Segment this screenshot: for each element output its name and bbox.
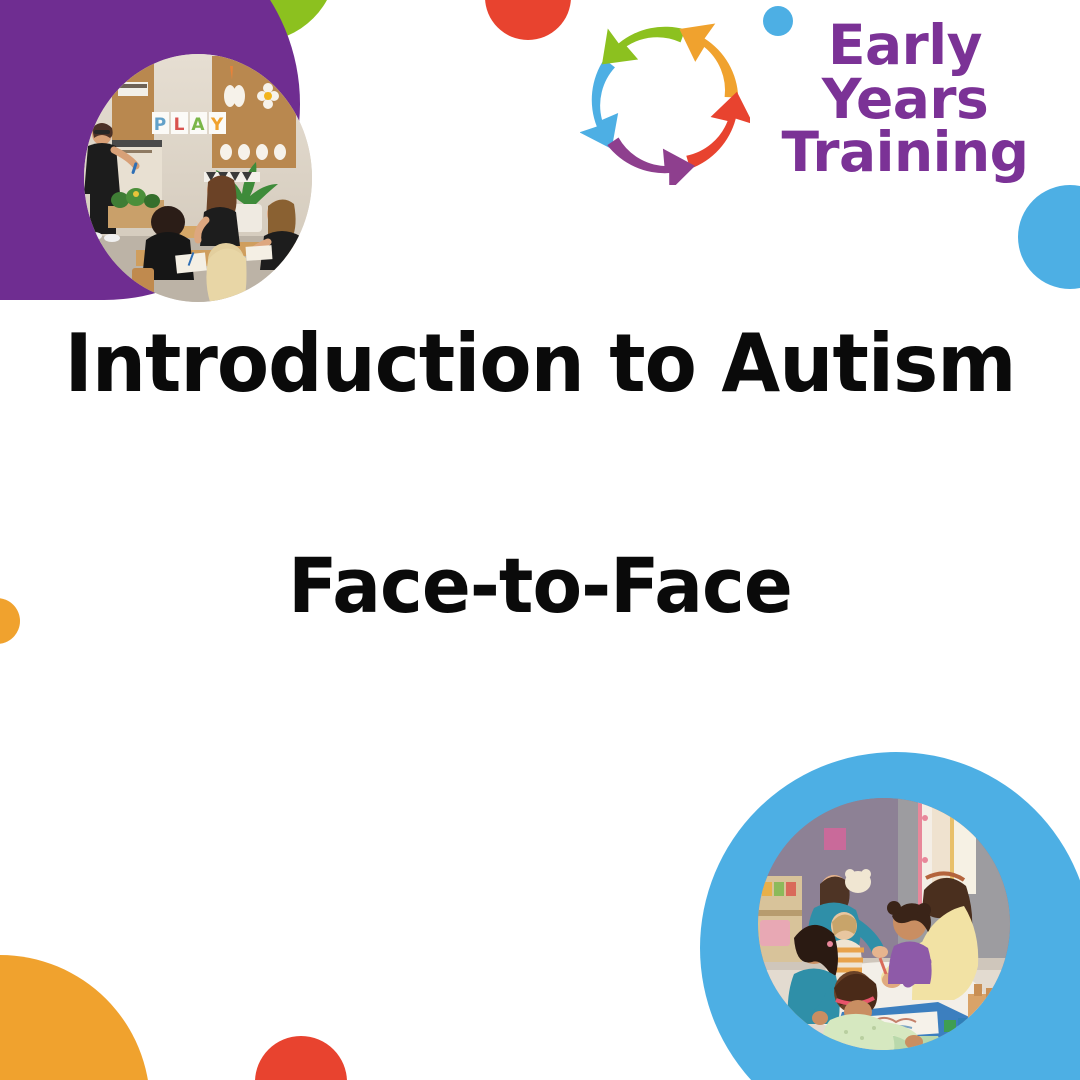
page-subtitle-container: Face-to-Face <box>0 548 1080 624</box>
page-title: Introduction to Autism <box>27 324 1053 404</box>
svg-text:A: A <box>191 115 205 135</box>
page-subtitle: Face-to-Face <box>27 548 1053 624</box>
circular-arrows-icon <box>580 15 750 185</box>
brand-name-line1: Early Years <box>822 13 989 131</box>
photo-training-classroom-image: P L A Y <box>84 54 312 302</box>
svg-text:Y: Y <box>210 115 224 135</box>
poster-canvas: P L A Y <box>0 0 1080 1080</box>
red-circle-top-decoration <box>485 0 571 40</box>
red-circle-bottom-decoration <box>255 1036 347 1080</box>
brand-name-line2: Training <box>760 126 1050 180</box>
orange-circle-bottom-left-decoration <box>0 955 150 1080</box>
brand-name: Early Years Training <box>760 19 1050 181</box>
brand-logo[interactable]: Early Years Training <box>580 12 1050 187</box>
svg-text:P: P <box>154 115 166 135</box>
photo-nursery-children <box>758 798 1010 1050</box>
svg-text:L: L <box>174 115 185 135</box>
blue-circle-right-decoration <box>1018 185 1080 289</box>
blue-accent-dot-icon <box>763 6 793 36</box>
page-title-container: Introduction to Autism <box>0 324 1080 404</box>
photo-nursery-children-image <box>758 798 1010 1050</box>
photo-training-classroom: P L A Y <box>84 54 312 302</box>
